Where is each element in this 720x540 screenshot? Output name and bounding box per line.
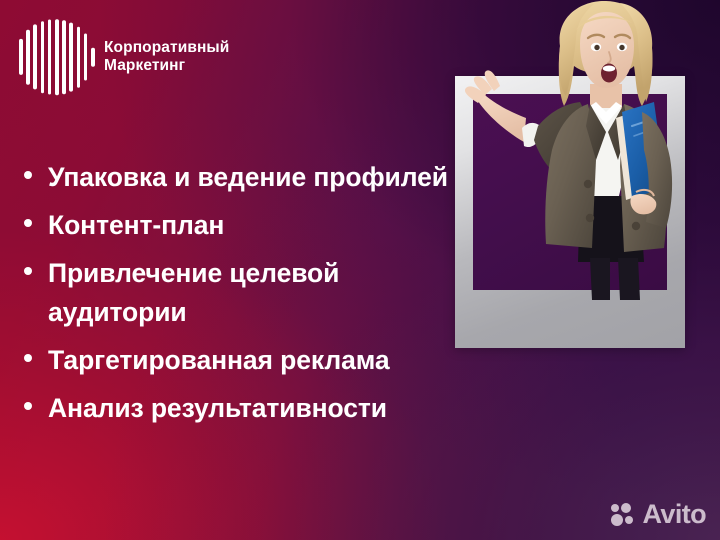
logo-bar (19, 39, 23, 75)
circular-soundwave-bars-logo (16, 18, 94, 96)
photo-composition (440, 0, 720, 360)
bullet-text: Привлечение целевой аудитории (48, 254, 448, 334)
logo-bar (48, 20, 52, 95)
avito-wordmark: Avito (643, 501, 707, 528)
logo-bar (26, 30, 30, 85)
logo-bar (41, 21, 45, 93)
avito-dots-logo (611, 503, 637, 527)
bullet-marker-icon (24, 219, 32, 227)
logo-bar (33, 24, 37, 89)
bullet-marker-icon (24, 267, 32, 275)
logo-bar (91, 48, 95, 67)
bullet-text: Анализ результативности (48, 389, 387, 429)
logo-bar (77, 27, 81, 88)
logo-bar (84, 34, 88, 81)
logo-bar (69, 23, 73, 92)
bullet-text: Упаковка и ведение профилей (48, 158, 448, 198)
promo-slide: Корпоративный Маркетинг Упаковка и веден… (0, 0, 720, 540)
bullet-marker-icon (24, 354, 32, 362)
bullet-item: Анализ результативности (14, 389, 534, 429)
bullet-marker-icon (24, 171, 32, 179)
bullet-marker-icon (24, 402, 32, 410)
logo-bar (62, 20, 66, 94)
brand-name-text: Корпоративный Маркетинг (104, 39, 229, 74)
bullet-text: Таргетированная реклама (48, 341, 390, 381)
photo-frame-inner-area (473, 94, 667, 290)
brand-logo: Корпоративный Маркетинг (16, 18, 229, 96)
logo-bar (55, 19, 59, 95)
bullet-text: Контент-план (48, 206, 224, 246)
avito-watermark: Avito (611, 501, 707, 528)
polaroid-photo-frame (455, 76, 685, 348)
